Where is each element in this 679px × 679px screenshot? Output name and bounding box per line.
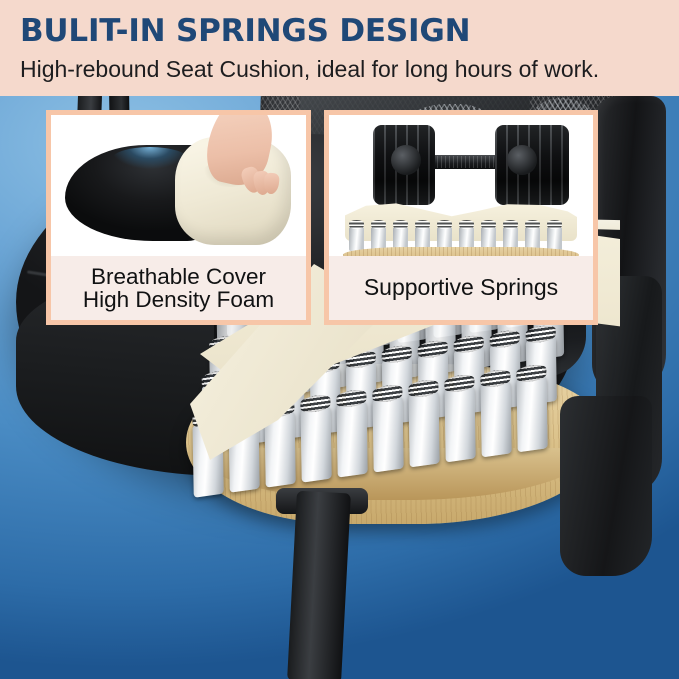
gas-cylinder (287, 491, 351, 679)
feature-panel-supportive-springs: Supportive Springs (324, 110, 598, 325)
caption-line-1: Breathable Cover (91, 265, 266, 288)
breathable-cover-illustration (51, 115, 306, 258)
panel-caption-breathable-cover: Breathable Cover High Density Foam (51, 256, 306, 320)
product-infographic: BULIT-IN SPRINGS DESIGN High-rebound Sea… (0, 0, 679, 679)
header-banner: BULIT-IN SPRINGS DESIGN High-rebound Sea… (0, 0, 679, 96)
chair-leg-right (560, 396, 652, 576)
spring-unit (349, 227, 364, 251)
page-title: BULIT-IN SPRINGS DESIGN (20, 13, 470, 49)
dumbbell-grip-knurl (433, 156, 495, 168)
supportive-springs-illustration (329, 115, 593, 258)
caption-line-2: High Density Foam (83, 288, 274, 311)
page-subtitle: High-rebound Seat Cushion, ideal for lon… (20, 56, 599, 83)
panel-caption-supportive-springs: Supportive Springs (329, 256, 593, 320)
caption-line-1: Supportive Springs (364, 276, 558, 300)
dumbbell-hub-right (507, 145, 537, 175)
feature-panel-breathable-cover: Breathable Cover High Density Foam (46, 110, 311, 325)
dumbbell-hub-left (391, 145, 421, 175)
